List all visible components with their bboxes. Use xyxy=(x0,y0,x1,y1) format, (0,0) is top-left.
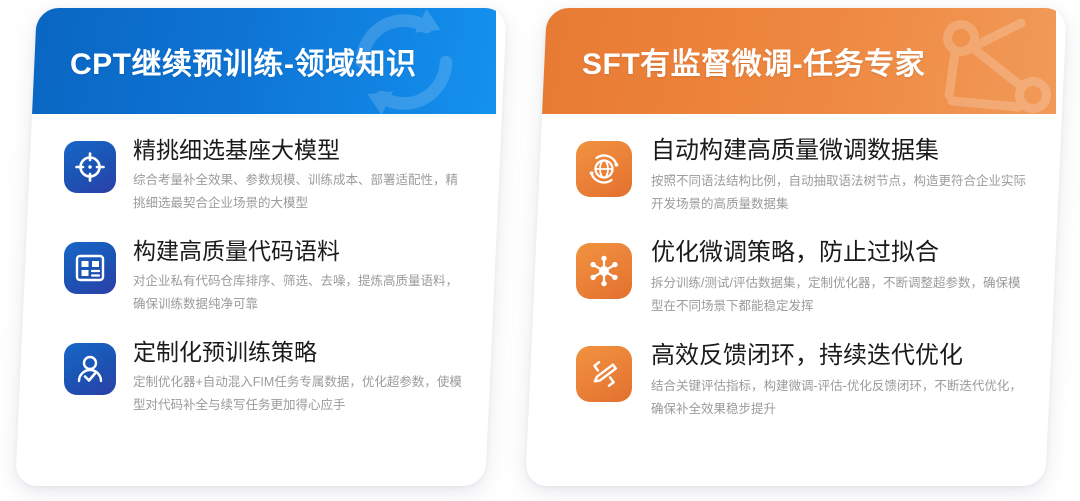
feature-title: 优化微调策略，防止过拟合 xyxy=(651,238,1032,268)
card-cpt-title: CPT继续预训练-领域知识 xyxy=(70,39,417,83)
feature-item[interactable]: 自动构建高质量微调数据集 按照不同语法结构比例，自动抽取语法树节点，构造更符合企… xyxy=(576,136,1032,216)
feature-desc: 按照不同语法结构比例，自动抽取语法树节点，构造更符合企业实际开发场景的高质量数据… xyxy=(651,170,1032,216)
feature-title: 定制化预训练策略 xyxy=(133,338,466,367)
feature-item[interactable]: 高效反馈闭环，持续迭代优化 结合关键评估指标，构建微调-评估-优化反馈闭环，不断… xyxy=(576,341,1032,421)
card-cpt-header: CPT继续预训练-领域知识 xyxy=(26,8,496,114)
crosshair-target-icon xyxy=(64,141,116,193)
feature-item[interactable]: 构建高质量代码语料 对企业私有代码仓库排序、筛选、去噪，提炼高质量语料，确保训练… xyxy=(64,237,466,316)
feature-title: 高效反馈闭环，持续迭代优化 xyxy=(651,341,1032,371)
feature-item[interactable]: 精挑细选基座大模型 综合考量补全效果、参数规模、训练成本、部署适配性，精挑细选最… xyxy=(64,136,466,215)
feature-desc: 拆分训练/测试/评估数据集，定制优化器，不断调整超参数，确保模型在不同场景下都能… xyxy=(651,272,1032,318)
card-cpt-feature-list: 精挑细选基座大模型 综合考量补全效果、参数规模、训练成本、部署适配性，精挑细选最… xyxy=(26,114,496,486)
card-sft[interactable]: SFT有监督微调-任务专家 xyxy=(525,8,1067,486)
feature-title: 精挑细选基座大模型 xyxy=(133,136,466,165)
card-cpt[interactable]: CPT继续预训练-领域知识 xyxy=(15,8,507,486)
card-sft-feature-list: 自动构建高质量微调数据集 按照不同语法结构比例，自动抽取语法树节点，构造更符合企… xyxy=(536,114,1056,486)
card-sft-title: SFT有监督微调-任务专家 xyxy=(582,39,925,83)
feature-desc: 结合关键评估指标，构建微调-评估-优化反馈闭环，不断迭代优化，确保补全效果稳步提… xyxy=(651,375,1032,421)
feature-title: 自动构建高质量微调数据集 xyxy=(651,136,1032,166)
hexagon-hub-icon xyxy=(576,243,632,299)
feature-item[interactable]: 定制化预训练策略 定制优化器+自动混入FIM任务专属数据，优化超参数，使模型对代… xyxy=(64,338,466,417)
pen-exchange-icon xyxy=(576,346,632,402)
feature-title: 构建高质量代码语料 xyxy=(133,237,466,266)
molecule-graph-icon xyxy=(916,8,1056,114)
card-sft-header: SFT有监督微调-任务专家 xyxy=(536,8,1056,114)
infographic-stage: CPT继续预训练-领域知识 xyxy=(0,0,1080,501)
user-check-icon xyxy=(64,343,116,395)
feature-desc: 对企业私有代码仓库排序、筛选、去噪，提炼高质量语料，确保训练数据纯净可靠 xyxy=(133,270,466,316)
layout-grid-icon xyxy=(64,242,116,294)
feature-desc: 定制优化器+自动混入FIM任务专属数据，优化超参数，使模型对代码补全与续写任务更… xyxy=(133,371,466,417)
feature-desc: 综合考量补全效果、参数规模、训练成本、部署适配性，精挑细选最契合企业场景的大模型 xyxy=(133,169,466,215)
globe-network-icon xyxy=(576,141,632,197)
feature-item[interactable]: 优化微调策略，防止过拟合 拆分训练/测试/评估数据集，定制优化器，不断调整超参数… xyxy=(576,238,1032,318)
